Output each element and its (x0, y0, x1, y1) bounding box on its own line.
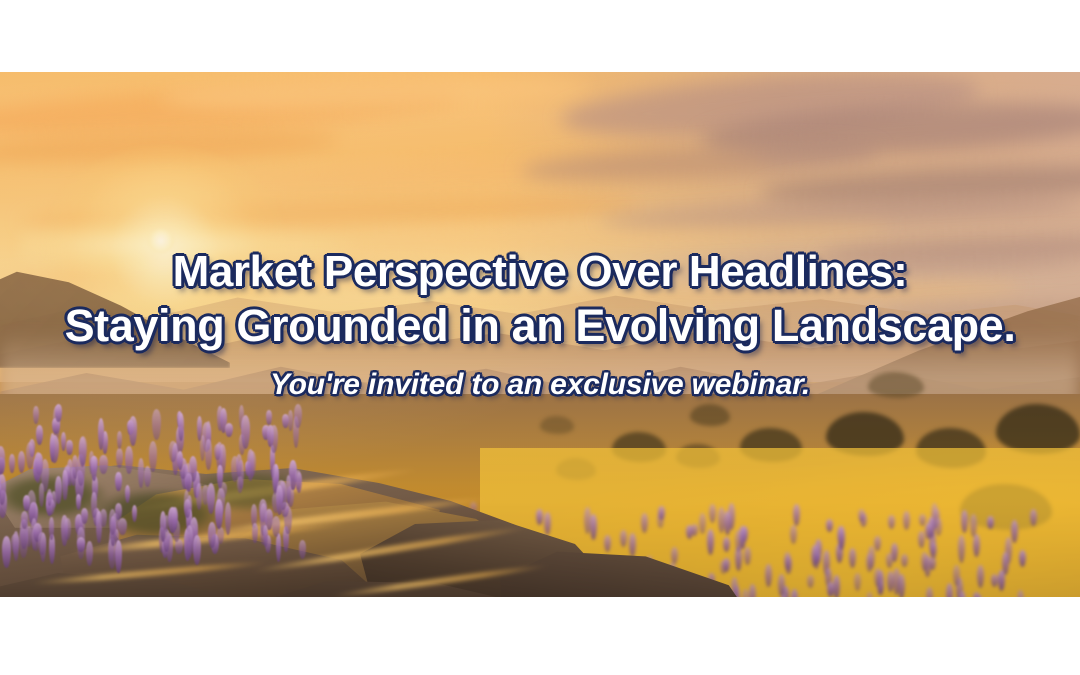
lupine-spike (723, 537, 730, 552)
lupine-spike (723, 558, 730, 573)
lupine-spike (266, 410, 271, 426)
lupine-spike (125, 485, 130, 503)
lupine-spike (225, 423, 233, 437)
lupine-spike (217, 465, 222, 488)
lupine-spike (536, 509, 543, 525)
lupine-spike (901, 554, 908, 567)
lupine-spike (749, 584, 756, 597)
lupine-spike (1030, 509, 1037, 526)
lupine-spike (270, 425, 279, 454)
lupine-spike (132, 505, 137, 522)
lupine-spike (854, 573, 861, 591)
lupine-spike (921, 552, 928, 571)
lupine-spike (838, 526, 845, 550)
lupine-spike (629, 533, 636, 557)
lupine-spike (918, 531, 925, 549)
lupine-spike (272, 516, 280, 537)
lupine-spike (849, 548, 856, 568)
shrub (540, 416, 574, 434)
lupine-spike (225, 502, 231, 535)
hero-banner-image: Market Perspective Over Headlines: Stayi… (0, 72, 1080, 597)
lupine-spike (276, 485, 283, 515)
lupine-spike (886, 553, 893, 568)
lupine-spike (544, 512, 551, 534)
shrub (690, 404, 730, 426)
lupine-spike (91, 492, 97, 518)
lupine-spike (874, 536, 881, 551)
lupine-spike (709, 504, 716, 523)
lupine-spike (39, 483, 45, 507)
lupine-spike (735, 530, 742, 553)
lupine-spike (744, 547, 751, 565)
lupine-spike (930, 542, 937, 559)
lupine-spike (888, 515, 895, 530)
lupine-spike (691, 524, 698, 536)
lupine-spike (100, 509, 107, 527)
lupine-spike (66, 440, 72, 456)
lupine-spike (205, 439, 212, 470)
lupine-spike (129, 416, 137, 446)
lupine-spike (958, 535, 965, 563)
lupine-spike (117, 431, 123, 449)
lupine-spike (168, 507, 177, 534)
sun-disc (148, 229, 174, 253)
lupine-spike (1011, 520, 1018, 544)
lupine-spike (81, 508, 88, 525)
lupine-spike (793, 504, 800, 526)
lupine-spike (811, 545, 818, 567)
lupine-spike (935, 518, 942, 536)
lupine-spike (241, 415, 250, 449)
lupine-spike (55, 404, 63, 422)
page-root: Market Perspective Over Headlines: Stayi… (0, 0, 1080, 675)
lupine-spike (903, 511, 910, 530)
lupine-spike (833, 575, 840, 597)
lupine-spike (118, 518, 127, 536)
lupine-spike (590, 514, 597, 540)
lupine-spike (765, 564, 772, 588)
lupine-spike (858, 509, 865, 522)
lupine-spike (874, 568, 881, 588)
lupine-spike (658, 506, 665, 521)
lupine-spike (925, 523, 932, 540)
lupine-spike (196, 483, 202, 510)
lupine-spike (33, 406, 39, 424)
lupine-spike (152, 409, 161, 440)
lupine-spike (99, 455, 108, 474)
lupine-spike (866, 553, 873, 572)
lupine-spike (217, 406, 223, 431)
lupine-spike (724, 511, 731, 536)
lupine-spike (742, 589, 749, 597)
lupine-spike (946, 583, 953, 597)
lupine-spike (973, 592, 980, 597)
lupine-spike (998, 570, 1005, 591)
lupine-spike (86, 541, 93, 567)
lupine-spike (1019, 550, 1026, 567)
lupine-spike (790, 525, 797, 544)
lupine-spike (217, 527, 224, 544)
lupine-spike (641, 513, 648, 533)
lupine-spike (671, 547, 678, 564)
lupine-spike (620, 530, 627, 547)
lupine-spike (169, 441, 176, 462)
lupine-cluster-left (0, 402, 316, 552)
lupine-spike (791, 589, 798, 597)
lupine-spike (109, 509, 116, 535)
lupine-spike (138, 458, 144, 488)
lupine-spike (1017, 590, 1024, 597)
lupine-spike (18, 451, 26, 474)
lupine-spike (125, 446, 133, 475)
lupine-spike (604, 535, 611, 552)
lupine-spike (295, 470, 301, 490)
lupine-spike (115, 472, 121, 492)
lupine-spike (987, 516, 994, 529)
lupine-spike (294, 404, 302, 429)
lupine-spike (699, 513, 706, 534)
lupine-spike (249, 451, 256, 478)
lupine-spike (977, 565, 984, 589)
lupine-spike (236, 454, 242, 477)
lupine-spike (252, 523, 258, 543)
lupine-spike (36, 425, 44, 445)
lupine-spike (961, 510, 968, 533)
lupine-spike (9, 454, 15, 473)
sun-beam (20, 222, 360, 268)
lupine-spike (76, 494, 82, 510)
lupine-spike (149, 441, 157, 472)
lupine-spike (64, 518, 70, 540)
lupine-spike (926, 587, 933, 597)
lupine-spike (215, 499, 223, 529)
lupine-spike (991, 574, 998, 587)
lupine-spike (807, 575, 814, 588)
lupine-spike (826, 519, 833, 532)
shrub (868, 372, 924, 398)
lupine-spike (959, 591, 966, 597)
lupine-spike (866, 592, 873, 597)
lupine-spike (160, 511, 166, 542)
lupine-spike (214, 444, 221, 460)
lupine-spike (55, 476, 62, 505)
lupine-spike (208, 522, 216, 547)
lupine-spike (79, 437, 86, 467)
lupine-spike (61, 432, 66, 451)
lupine-spike (38, 532, 46, 555)
lupine-spike (62, 470, 67, 500)
lupine-spike (116, 448, 123, 468)
lupine-spike (707, 529, 714, 555)
